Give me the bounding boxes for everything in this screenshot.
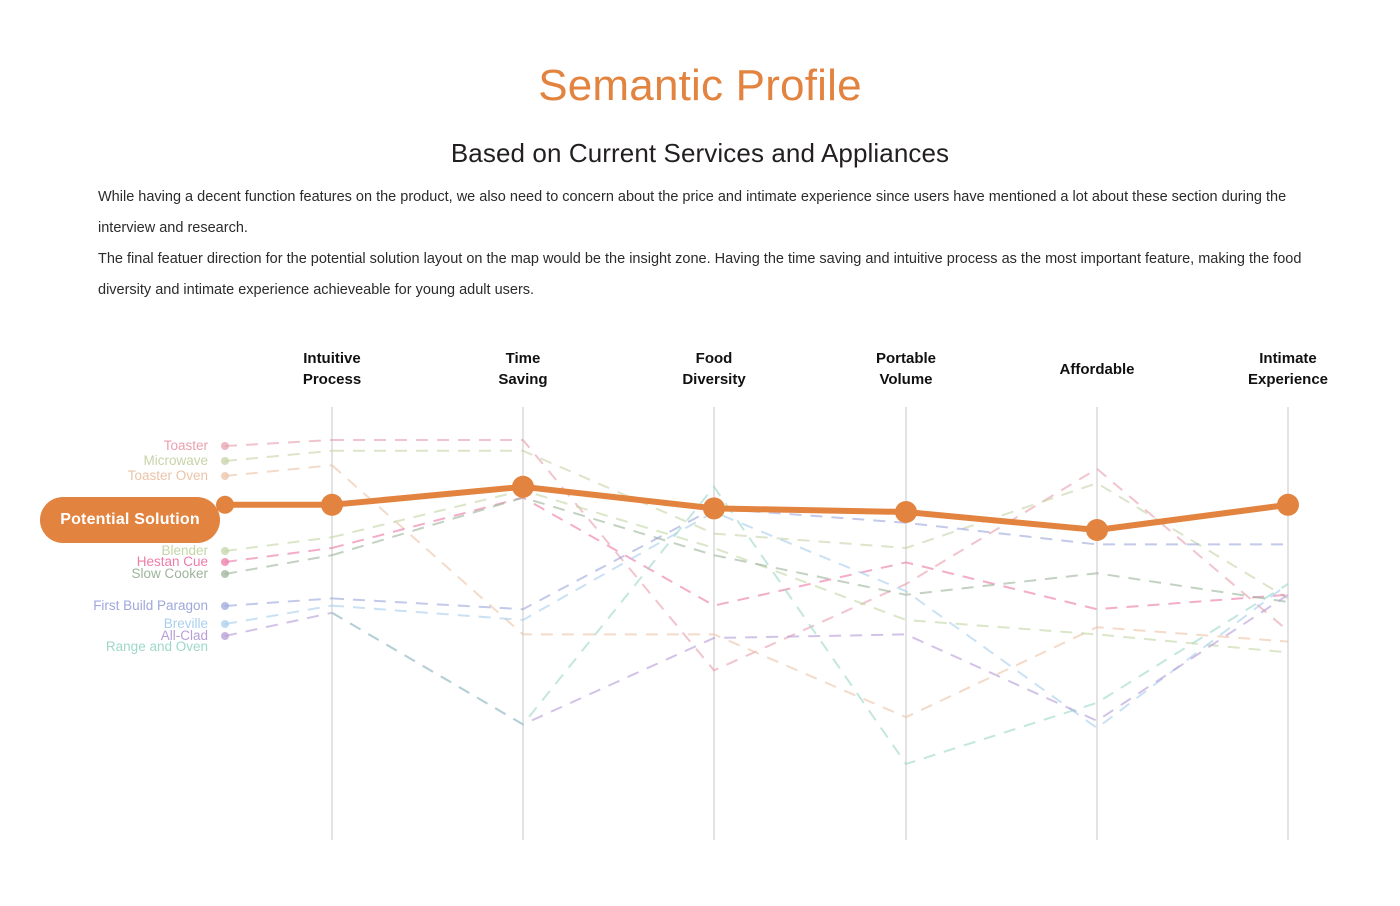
legend-item-label: Microwave — [143, 453, 208, 468]
axis-caption-line-2: Process — [252, 369, 412, 390]
potential-solution-point-5 — [1086, 519, 1108, 541]
chart-series-group — [332, 440, 1288, 764]
potential-solution-point-2 — [512, 476, 534, 498]
legend-marker-dot-6 — [221, 602, 229, 610]
series-line-4 — [332, 498, 1288, 610]
legend-item-label: Toaster — [164, 438, 208, 453]
potential-solution-point-3 — [703, 497, 725, 519]
legend-connector-3 — [225, 537, 332, 551]
legend-item-range-and-oven[interactable]: Range and Oven — [106, 639, 212, 654]
axis-caption-line-1: Intuitive — [252, 348, 412, 369]
legend-connector-group — [221, 440, 332, 640]
chart-axis-gridlines — [332, 407, 1288, 840]
series-line-3 — [332, 490, 1288, 652]
legend-connector-8 — [225, 613, 332, 636]
axis-caption-5: IntimateExperience — [1208, 348, 1368, 390]
body-copy: While having a decent function features … — [98, 182, 1328, 306]
legend-item-toaster[interactable]: Toaster — [164, 438, 212, 453]
axis-caption-line-1: Affordable — [1017, 359, 1177, 380]
axis-caption-line-1: Time — [443, 348, 603, 369]
series-line-5 — [332, 498, 1288, 602]
legend-item-label: Slow Cooker — [131, 566, 208, 581]
series-line-0 — [332, 440, 1288, 670]
legend-item-label: First Build Paragon — [93, 598, 208, 613]
potential-solution-point-6 — [1277, 494, 1299, 516]
axis-caption-line-1: Food — [634, 348, 794, 369]
legend-marker-dot-1 — [221, 457, 229, 465]
legend-item-slow-cooker[interactable]: Slow Cooker — [131, 566, 212, 581]
axis-caption-line-2: Experience — [1208, 369, 1368, 390]
legend-marker-dot-4 — [221, 558, 229, 566]
series-line-7 — [332, 512, 1288, 728]
legend-marker-dot-5 — [221, 570, 229, 578]
axis-caption-line-2: Saving — [443, 369, 603, 390]
body-paragraph-2: The final featuer direction for the pote… — [98, 244, 1328, 306]
axis-caption-0: IntuitiveProcess — [252, 348, 412, 390]
axis-caption-line-2: Volume — [826, 369, 986, 390]
legend-marker-dot-8 — [221, 632, 229, 640]
axis-caption-line-1: Portable — [826, 348, 986, 369]
axis-caption-line-2: Diversity — [634, 369, 794, 390]
legend-connector-0 — [225, 440, 332, 446]
legend-item-label: Range and Oven — [106, 639, 208, 654]
legend-item-label: Toaster Oven — [128, 468, 208, 483]
series-line-2 — [332, 465, 1288, 717]
potential-solution-series — [216, 476, 1299, 541]
chart-legend: ToasterMicrowaveToaster OvenBlenderHesta… — [0, 0, 212, 906]
legend-connector-6 — [225, 598, 332, 606]
legend-connector-2 — [225, 465, 332, 476]
potential-solution-badge[interactable]: Potential Solution — [40, 497, 220, 543]
axis-caption-line-1: Intimate — [1208, 348, 1368, 369]
potential-solution-point-0 — [216, 496, 234, 514]
legend-connector-7 — [225, 606, 332, 624]
axis-caption-4: Affordable — [1017, 359, 1177, 380]
axis-caption-2: FoodDiversity — [634, 348, 794, 390]
axis-caption-1: TimeSaving — [443, 348, 603, 390]
legend-marker-dot-3 — [221, 547, 229, 555]
potential-solution-line — [225, 487, 1288, 530]
series-line-8 — [332, 595, 1288, 725]
potential-solution-point-4 — [895, 501, 917, 523]
legend-marker-dot-7 — [221, 620, 229, 628]
body-paragraph-1: While having a decent function features … — [98, 182, 1328, 244]
legend-connector-4 — [225, 548, 332, 562]
series-line-9 — [332, 487, 1288, 764]
series-line-1 — [332, 451, 1288, 599]
potential-solution-badge-label: Potential Solution — [60, 511, 200, 529]
series-line-6 — [332, 508, 1288, 609]
legend-item-microwave[interactable]: Microwave — [143, 453, 212, 468]
legend-marker-dot-0 — [221, 442, 229, 450]
legend-connector-1 — [225, 451, 332, 461]
legend-item-first-build-paragon[interactable]: First Build Paragon — [93, 598, 212, 613]
legend-connector-5 — [225, 555, 332, 574]
axis-caption-3: PortableVolume — [826, 348, 986, 390]
legend-item-toaster-oven[interactable]: Toaster Oven — [128, 468, 212, 483]
potential-solution-point-1 — [321, 494, 343, 516]
legend-marker-dot-2 — [221, 472, 229, 480]
